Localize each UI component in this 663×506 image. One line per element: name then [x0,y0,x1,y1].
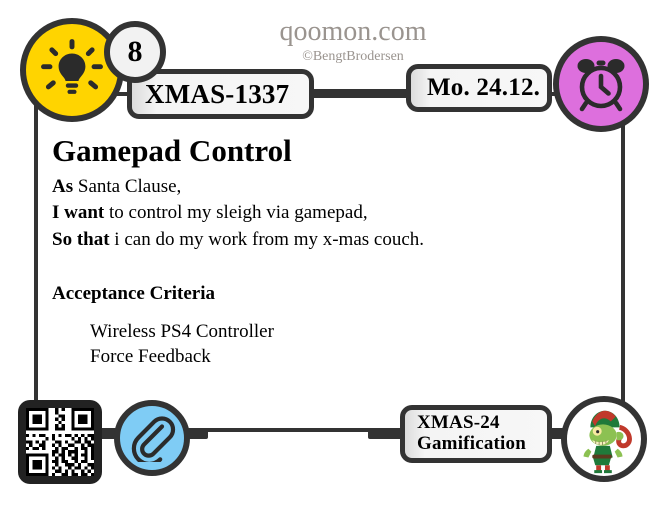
lightbulb-icon [39,37,105,103]
story-id-label: XMAS-1337 [145,79,289,110]
qr-code-icon [26,408,94,476]
epic-id-label: XMAS-24 [417,413,500,434]
due-date-label: Mo. 24.12. [427,74,540,102]
story-line: I want to control my sleigh via gamepad, [52,200,592,226]
story-id-pill[interactable]: XMAS-1337 [127,69,314,119]
acceptance-criteria-list: Wireless PS4 Controller Force Feedback [52,319,592,370]
story-line: As Santa Clause, [52,174,592,200]
story-line-rest: i can do my work from my x-mas couch. [110,229,424,250]
epic-name-label: Gamification [417,434,526,455]
story-line-lead: As [52,176,73,197]
paperclip-icon [128,414,176,462]
elf-avatar-icon [567,401,641,477]
attachment-badge[interactable] [114,400,190,476]
story-line-lead: I want [52,202,104,223]
connector-story-to-date [296,89,420,98]
story-content: Gamepad Control As Santa Clause, I want … [52,134,592,369]
story-line-rest: Santa Clause, [73,176,181,197]
due-date-badge[interactable] [553,36,649,132]
alarm-clock-icon [569,52,633,116]
watermark: qoomon.com ©BengtBrodersen [258,18,448,67]
due-date-pill[interactable]: Mo. 24.12. [406,64,552,112]
story-points-value: 8 [128,35,143,69]
qr-code-badge[interactable] [18,400,102,484]
list-item: Wireless PS4 Controller [90,319,592,344]
acceptance-criteria-heading: Acceptance Criteria [52,283,592,305]
story-line: So that i can do my work from my x-mas c… [52,227,592,253]
story-line-rest: to control my sleigh via gamepad, [104,202,367,223]
epic-pill[interactable]: XMAS-24 Gamification [400,405,552,463]
story-line-lead: So that [52,229,110,250]
list-item: Force Feedback [90,344,592,369]
story-title: Gamepad Control [52,134,592,168]
user-story-card: qoomon.com ©BengtBrodersen 8 XMAS-1337 [0,0,663,506]
story-points-badge[interactable]: 8 [104,21,166,83]
avatar[interactable] [561,396,647,482]
watermark-site: qoomon.com [258,18,448,46]
